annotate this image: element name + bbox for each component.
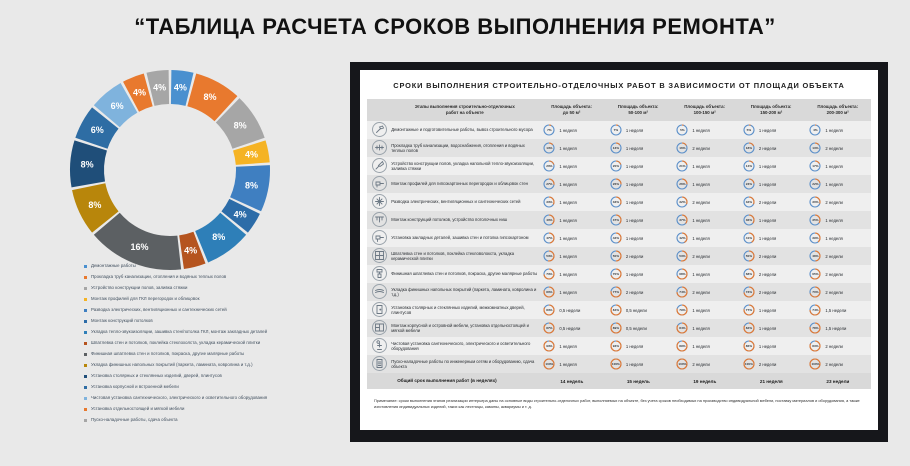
stage-duration-cell: 48%2 недели (804, 247, 871, 265)
table-row: Демонтажные и подготовительные работы, в… (367, 121, 871, 139)
stage-duration-text: 2 недели (692, 146, 709, 151)
progress-ring: 14% (743, 160, 755, 172)
progress-ring: 32% (676, 196, 688, 208)
progress-ring: 79% (676, 304, 688, 316)
stage-duration-text: 2 недели (825, 200, 842, 205)
stage-duration-text: 2 недели (825, 290, 842, 295)
ceiling-icon (372, 212, 387, 227)
table-header-row: Этапы выполнения строительно-отделочных … (367, 99, 871, 121)
legend-bullet-icon (84, 364, 87, 367)
total-row-value-1: 14 недель (538, 373, 605, 389)
stage-duration-text: 2 недели (692, 362, 709, 367)
progress-ring-label: 7% (543, 124, 555, 136)
stage-duration-cell: 36%1 неделя (738, 211, 805, 229)
stage-duration-cell: 50%2 недели (605, 247, 672, 265)
stage-duration-cell: 23%1 неделя (738, 175, 805, 193)
progress-ring: 7% (610, 124, 622, 136)
donut-slice-label: 16% (130, 242, 148, 252)
stage-duration-text: 2 недели (825, 362, 842, 367)
progress-ring: 33% (543, 196, 555, 208)
stage-duration-text: 2 недели (825, 272, 842, 277)
total-row-value-4: 21 неделя (738, 373, 805, 389)
progress-ring-label: 77% (743, 304, 755, 316)
stage-duration-text: 1 неделя (759, 128, 776, 133)
progress-ring-label: 32% (743, 196, 755, 208)
stage-duration-cell: 40%1 неделя (538, 211, 605, 229)
progress-ring-label: 70% (610, 268, 622, 280)
stage-icon-cell (367, 157, 391, 175)
progress-ring-label: 41% (743, 232, 755, 244)
progress-ring-label: 47% (543, 232, 555, 244)
stage-duration-cell: 14%1 неделя (738, 157, 805, 175)
donut-slice-label: 8% (212, 232, 225, 242)
progress-ring-label: 48% (809, 250, 821, 262)
stage-duration-text: 1,5 недели (825, 326, 846, 331)
stage-duration-cell: 37%1 неделя (671, 211, 738, 229)
legend-item[interactable]: Установка столярных и стеклянных изделий… (84, 372, 364, 380)
total-value-5-text: 23 недели (804, 379, 871, 384)
progress-ring: 21% (676, 160, 688, 172)
progress-ring: 77% (743, 304, 755, 316)
stage-duration-cell: 20%1 неделя (538, 157, 605, 175)
stage-duration-text: 2 недели (759, 254, 776, 259)
progress-ring-label: 14% (743, 160, 755, 172)
legend-bullet-icon (84, 375, 87, 378)
table-row: Устройство конструкции полов, укладка на… (367, 157, 871, 175)
progress-ring-label: 84% (676, 322, 688, 334)
progress-ring-label: 4% (809, 124, 821, 136)
stage-duration-text: 1 неделя (759, 344, 776, 349)
progress-ring-label: 13% (610, 142, 622, 154)
progress-ring: 74% (809, 304, 821, 316)
stage-duration-cell: 42%1 неделя (605, 229, 672, 247)
stage-duration-cell: 77%2 недели (605, 283, 672, 301)
table-row: Монтаж конструкций потолков, устройство … (367, 211, 871, 229)
legend-item[interactable]: Прокладка труб канализации, отопления и … (84, 273, 364, 281)
stage-duration-text: 2 недели (692, 200, 709, 205)
progress-ring-label: 26% (676, 178, 688, 190)
stage-duration-text: 1 неделя (692, 344, 709, 349)
tile-icon (372, 248, 387, 263)
stage-duration-text: 1 неделя (825, 182, 842, 187)
progress-ring: 84% (610, 304, 622, 316)
progress-ring: 68% (743, 268, 755, 280)
stage-duration-cell: 100%2 недели (671, 355, 738, 373)
progress-ring: 30% (809, 196, 821, 208)
progress-ring-label: 13% (809, 142, 821, 154)
stage-duration-cell: 86%1 неделя (738, 337, 805, 355)
legend-item-label: Финишная шпатлевка стен и потолков, покр… (91, 350, 244, 358)
stage-duration-cell: 100%2 недели (738, 355, 805, 373)
progress-ring: 65% (809, 268, 821, 280)
stage-duration-text: 2 недели (692, 254, 709, 259)
progress-ring: 32% (743, 196, 755, 208)
stage-duration-text: 1 неделя (626, 272, 643, 277)
door-icon (372, 302, 387, 317)
stage-duration-cell: 32%2 недели (738, 193, 805, 211)
legend-bullet-icon (84, 265, 87, 268)
legend-item[interactable]: Монтаж профилей для ГКЛ перегородок и об… (84, 295, 364, 303)
donut-slice-label: 4% (133, 88, 146, 98)
stage-duration-cell: 50%2 недели (738, 247, 805, 265)
stage-duration-cell: 17%1 неделя (804, 157, 871, 175)
donut-slices (70, 70, 270, 270)
progress-ring: 20% (543, 160, 555, 172)
progress-ring: 84% (676, 322, 688, 334)
stage-duration-cell: 33%1 неделя (605, 193, 672, 211)
progress-ring-label: 74% (676, 286, 688, 298)
stage-duration-cell: 5%1 неделя (738, 121, 805, 139)
progress-ring-label: 17% (809, 160, 821, 172)
table-note: Примечание: сроки выполнения этапов реал… (374, 398, 864, 409)
stage-duration-cell: 93%1 неделя (605, 337, 672, 355)
stage-name: Устройство конструкции полов, укладка на… (391, 157, 538, 175)
legend-item[interactable]: Шпатлевка стен и потолков, поклейка стек… (84, 339, 364, 347)
stage-icon-cell (367, 211, 391, 229)
stage-name: Финишная шпатлевка стен и потолков, покр… (391, 265, 538, 283)
stage-duration-cell: 84%0,5 недели (605, 301, 672, 319)
stage-duration-cell: 70%2 недели (804, 283, 871, 301)
progress-ring: 68% (676, 268, 688, 280)
progress-ring: 73% (543, 268, 555, 280)
stage-duration-text: 1 неделя (626, 128, 643, 133)
progress-ring: 50% (610, 250, 622, 262)
progress-ring: 100% (610, 358, 622, 370)
stage-duration-text: 1 неделя (559, 272, 576, 277)
stage-duration-text: 2 недели (759, 146, 776, 151)
table-row: Шпатлевка стен и потолков, поклейка стек… (367, 247, 871, 265)
table-row: Разводка электрических, вентиляционных и… (367, 193, 871, 211)
donut-slice-label: 8% (234, 120, 247, 130)
stage-duration-cell: 74%1,5 недели (804, 301, 871, 319)
stage-duration-text: 1 неделя (692, 218, 709, 223)
stage-name: Демонтажные и подготовительные работы, в… (391, 121, 538, 139)
stage-duration-cell: 53%1 неделя (538, 247, 605, 265)
stage-duration-text: 2 недели (759, 290, 776, 295)
progress-ring: 13% (543, 142, 555, 154)
stage-duration-cell: 13%1 неделя (605, 139, 672, 157)
legend-bullet-icon (84, 331, 87, 334)
progress-ring: 50% (743, 250, 755, 262)
progress-ring-label: 33% (610, 196, 622, 208)
progress-ring-label: 36% (743, 214, 755, 226)
legend-item[interactable]: Установка отдельностоящей и мягкой мебел… (84, 405, 364, 413)
table-footer: Общий срок выполнения работ (в неделях) … (367, 373, 871, 389)
stage-icon-cell (367, 319, 391, 337)
progress-ring-label: 77% (610, 286, 622, 298)
progress-ring-label: 5% (676, 124, 688, 136)
progress-ring: 100% (543, 358, 555, 370)
stage-duration-text: 2 недели (825, 254, 842, 259)
progress-ring: 47% (543, 232, 555, 244)
stage-duration-cell: 26%1 неделя (671, 175, 738, 193)
progress-ring-label: 37% (610, 214, 622, 226)
table-heading: СРОКИ ВЫПОЛНЕНИЯ СТРОИТЕЛЬНО-ОТДЕЛОЧНЫХ … (360, 70, 878, 99)
stage-duration-cell: 16%2 недели (671, 139, 738, 157)
progress-ring-label: 21% (676, 160, 688, 172)
progress-ring: 42% (676, 232, 688, 244)
stage-duration-text: 0,5 недели (626, 308, 647, 313)
progress-ring: 4% (809, 124, 821, 136)
total-value-2-text: 15 недель (605, 379, 672, 384)
stage-duration-text: 1 неделя (626, 200, 643, 205)
stage-duration-cell: 83%0,5 недели (538, 301, 605, 319)
legend-item[interactable]: Укладка тепло-звукоизоляции, зашивка сте… (84, 328, 364, 336)
trowel-icon (372, 158, 387, 173)
stage-duration-cell: 5%1 неделя (671, 121, 738, 139)
table-header: Этапы выполнения строительно-отделочных … (367, 99, 871, 121)
stage-name: Монтаж профилей для гипсокартонных перег… (391, 175, 538, 193)
stage-duration-cell: 22%1 неделя (804, 175, 871, 193)
progress-ring-label: 5% (743, 124, 755, 136)
stage-duration-text: 1 неделя (559, 146, 576, 151)
progress-ring-label: 26% (610, 178, 622, 190)
progress-ring-label: 83% (543, 304, 555, 316)
stage-duration-cell: 21%1 неделя (671, 157, 738, 175)
stage-duration-cell: 73%1 неделя (538, 265, 605, 283)
legend-item[interactable]: Финишная шпатлевка стен и потолков, покр… (84, 350, 364, 358)
table-row: Установка закладных деталей, зашивка сте… (367, 229, 871, 247)
stage-icon-cell (367, 175, 391, 193)
stage-duration-text: 1 неделя (759, 182, 776, 187)
stage-duration-cell: 80%1 неделя (538, 283, 605, 301)
stage-duration-text: 1 неделя (825, 164, 842, 169)
stage-duration-text: 1 неделя (692, 308, 709, 313)
stage-duration-text: 1 неделя (559, 164, 576, 169)
progress-ring-label: 18% (743, 142, 755, 154)
stage-duration-cell: 83%2 недели (804, 337, 871, 355)
progress-ring: 35% (809, 214, 821, 226)
checklist-icon (372, 356, 387, 371)
stage-duration-text: 1 неделя (559, 344, 576, 349)
legend-item[interactable]: Монтаж конструкций потолков (84, 317, 364, 325)
legend-item[interactable]: Демонтажные работы (84, 262, 364, 270)
progress-ring: 27% (543, 178, 555, 190)
total-row: Общий срок выполнения работ (в неделях) … (367, 373, 871, 389)
stage-duration-text: 2 недели (825, 146, 842, 151)
donut-slice-label: 6% (91, 125, 104, 135)
stage-duration-cell: 89%0,5 недели (605, 319, 672, 337)
stage-name: Установка закладных деталей, зашивка сте… (391, 229, 538, 247)
stage-duration-cell: 7%1 неделя (538, 121, 605, 139)
progress-ring-label: 42% (676, 232, 688, 244)
progress-ring: 93% (610, 340, 622, 352)
total-value-4-text: 21 неделя (738, 379, 805, 384)
progress-ring-label: 82% (743, 322, 755, 334)
column-header-area-1-line2: до 50 м² (540, 110, 603, 116)
legend-item-label: Чистовая установка сантехнического, элек… (91, 394, 267, 402)
legend-bullet-icon (84, 320, 87, 323)
legend-item[interactable]: Чистовая установка сантехнического, элек… (84, 394, 364, 402)
progress-ring-label: 100% (610, 358, 622, 370)
stage-duration-text: 2 недели (759, 200, 776, 205)
progress-ring: 7% (543, 124, 555, 136)
stage-duration-cell: 77%1 неделя (738, 301, 805, 319)
stage-duration-cell: 73%2 недели (738, 283, 805, 301)
progress-ring-label: 87% (543, 322, 555, 334)
progress-ring-label: 73% (543, 268, 555, 280)
progress-ring: 100% (743, 358, 755, 370)
column-header-area-2: Площадь объекта: 50-100 м² (605, 99, 672, 121)
stage-duration-cell: 37%1 неделя (605, 211, 672, 229)
table-row: Монтаж корпусной и островной мебели, уст… (367, 319, 871, 337)
stage-duration-cell: 68%1 неделя (671, 265, 738, 283)
stage-duration-text: 1 неделя (559, 254, 576, 259)
stage-name: Пуско-наладочные работы по инженерным се… (391, 355, 538, 373)
stage-duration-text: 1 неделя (692, 182, 709, 187)
stage-icon-cell (367, 139, 391, 157)
stage-duration-text: 0,5 недели (559, 308, 580, 313)
stage-duration-text: 1 неделя (759, 236, 776, 241)
legend-item-label: Монтаж профилей для ГКЛ перегородок и об… (91, 295, 200, 303)
stage-duration-cell: 47%1 неделя (538, 229, 605, 247)
stage-duration-text: 1 неделя (759, 308, 776, 313)
stage-duration-text: 2 недели (626, 254, 643, 259)
progress-ring-label: 65% (809, 268, 821, 280)
stage-duration-text: 1 неделя (759, 218, 776, 223)
table-row: Укладка финишных напольных покрытий (пар… (367, 283, 871, 301)
legend-bullet-icon (84, 342, 87, 345)
progress-ring: 83% (809, 340, 821, 352)
donut-slice-label: 8% (203, 92, 216, 102)
progress-ring: 80% (543, 286, 555, 298)
progress-ring-label: 33% (543, 196, 555, 208)
progress-ring-label: 78% (809, 322, 821, 334)
progress-ring-label: 30% (809, 196, 821, 208)
progress-ring-label: 50% (743, 250, 755, 262)
progress-ring: 20% (610, 160, 622, 172)
stage-duration-text: 1 неделя (825, 218, 842, 223)
stage-duration-text: 1 неделя (559, 218, 576, 223)
stage-duration-text: 1 неделя (692, 236, 709, 241)
legend-item[interactable]: Установка корпусной и встроенной мебели (84, 383, 364, 391)
progress-ring: 40% (543, 214, 555, 226)
progress-ring-label: 27% (543, 178, 555, 190)
stage-duration-text: 2 недели (759, 362, 776, 367)
stage-icon-cell (367, 355, 391, 373)
table-row: Монтаж профилей для гипсокартонных перег… (367, 175, 871, 193)
stage-duration-cell: 87%0,5 недели (538, 319, 605, 337)
table-row: Пуско-наладочные работы по инженерным се… (367, 355, 871, 373)
progress-ring: 37% (676, 214, 688, 226)
stage-duration-cell: 13%2 недели (804, 139, 871, 157)
progress-ring-label: 79% (676, 304, 688, 316)
stage-duration-cell: 78%1,5 недели (804, 319, 871, 337)
progress-ring-label: 7% (610, 124, 622, 136)
legend-item[interactable]: Устройство конструкции полов, заливка ст… (84, 284, 364, 292)
progress-ring: 74% (676, 286, 688, 298)
stage-duration-text: 1 неделя (626, 164, 643, 169)
progress-ring: 22% (809, 178, 821, 190)
progress-ring-label: 50% (610, 250, 622, 262)
legend-bullet-icon (84, 276, 87, 279)
progress-ring: 5% (743, 124, 755, 136)
stage-duration-cell: 35%1 неделя (804, 211, 871, 229)
progress-ring: 93% (543, 340, 555, 352)
stage-duration-cell: 41%1 неделя (738, 229, 805, 247)
legend-item[interactable]: Пуско-наладочные работы, сдача объекта (84, 416, 364, 424)
page-title: “ТАБЛИЦА РАСЧЕТА СРОКОВ ВЫПОЛНЕНИЯ РЕМОН… (0, 14, 910, 40)
stage-duration-text: 1 неделя (626, 182, 643, 187)
stage-duration-cell: 30%2 недели (804, 193, 871, 211)
progress-ring: 89% (676, 340, 688, 352)
donut-chart-svg: 4%8%8%4%8%4%8%4%16%8%8%6%6%4%4% (62, 62, 352, 287)
stage-duration-text: 1 неделя (825, 236, 842, 241)
progress-ring-label: 89% (610, 322, 622, 334)
stage-name: Разводка электрических, вентиляционных и… (391, 193, 538, 211)
progress-ring: 87% (543, 322, 555, 334)
column-header-area-1: Площадь объекта: до 50 м² (538, 99, 605, 121)
column-header-area-4-line2: 150-200 м² (740, 110, 803, 116)
legend-item-label: Разводка электрических, вентиляционных и… (91, 306, 227, 314)
donut-slice-label: 4% (245, 149, 258, 159)
progress-ring: 78% (809, 322, 821, 334)
stage-duration-text: 1,5 недели (825, 308, 846, 313)
stage-icon-cell (367, 247, 391, 265)
stage-duration-text: 1 неделя (692, 128, 709, 133)
progress-ring: 33% (610, 196, 622, 208)
donut-slice-label: 4% (174, 83, 187, 93)
progress-ring: 53% (676, 250, 688, 262)
progress-ring: 5% (676, 124, 688, 136)
legend-item[interactable]: Укладка финишных напольных покрытий (пар… (84, 361, 364, 369)
progress-ring: 16% (676, 142, 688, 154)
stage-name: Чистовая установка сантехнического, элек… (391, 337, 538, 355)
progress-ring-label: 40% (543, 214, 555, 226)
drill-icon (372, 176, 387, 191)
table-row: Чистовая установка сантехнического, элек… (367, 337, 871, 355)
progress-ring-label: 32% (676, 196, 688, 208)
column-header-stage: Этапы выполнения строительно-отделочных … (391, 99, 538, 121)
table-row: Установка столярных и стеклянных изделий… (367, 301, 871, 319)
progress-ring: 86% (743, 340, 755, 352)
table-row: Прокладка труб канализации, водоснабжени… (367, 139, 871, 157)
floor-icon (372, 284, 387, 299)
stage-duration-text: 1 неделя (692, 326, 709, 331)
progress-ring-label: 53% (543, 250, 555, 262)
stage-duration-cell: 100%2 недели (804, 355, 871, 373)
chart-legend: Демонтажные работыПрокладка труб канализ… (84, 262, 364, 427)
stage-duration-cell: 20%1 неделя (605, 157, 672, 175)
donut-slice-label: 4% (153, 83, 166, 93)
progress-ring-label: 100% (809, 358, 821, 370)
donut-slice-label: 8% (245, 180, 258, 190)
stage-duration-text: 1 неделя (559, 290, 576, 295)
stage-duration-cell: 4%1 неделя (804, 121, 871, 139)
stage-icon-cell (367, 283, 391, 301)
stage-duration-text: 1 неделя (626, 344, 643, 349)
progress-ring-label: 35% (809, 214, 821, 226)
progress-ring: 70% (610, 268, 622, 280)
stage-duration-cell: 100%1 неделя (538, 355, 605, 373)
legend-item[interactable]: Разводка электрических, вентиляционных и… (84, 306, 364, 314)
stage-name: Прокладка труб канализации, водоснабжени… (391, 139, 538, 157)
stage-name: Монтаж корпусной и островной мебели, уст… (391, 319, 538, 337)
table-body: Демонтажные и подготовительные работы, в… (367, 121, 871, 373)
progress-ring: 70% (809, 286, 821, 298)
stage-duration-cell: 42%1 неделя (671, 229, 738, 247)
progress-ring-label: 80% (543, 286, 555, 298)
stage-duration-text: 1 неделя (559, 200, 576, 205)
stage-duration-text: 1 неделя (626, 236, 643, 241)
progress-ring: 13% (610, 142, 622, 154)
column-header-area-3-line2: 100-150 м² (673, 110, 736, 116)
legend-bullet-icon (84, 298, 87, 301)
stage-duration-text: 1 неделя (626, 362, 643, 367)
stage-duration-text: 1 неделя (825, 128, 842, 133)
stage-duration-cell: 39%1 неделя (804, 229, 871, 247)
progress-ring: 73% (743, 286, 755, 298)
